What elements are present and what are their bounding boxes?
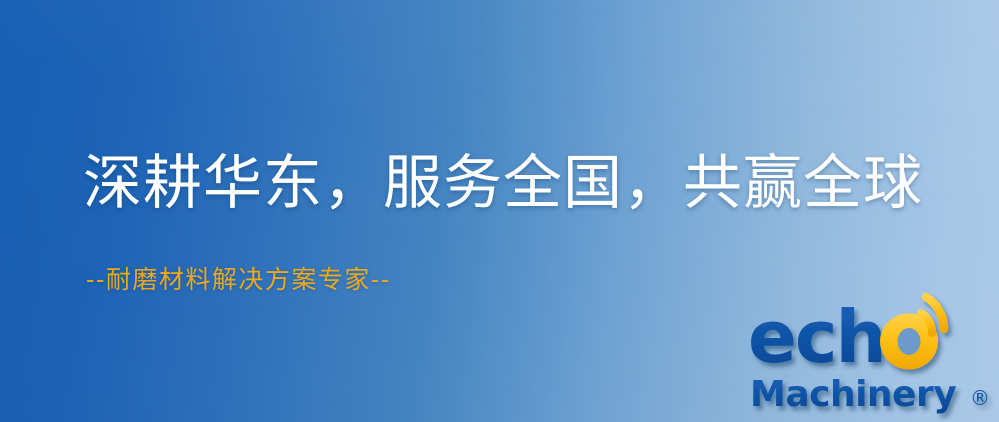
logo-tagline-text: Machinery [750, 374, 956, 415]
logo-wordmark-text: ech [748, 295, 885, 379]
banner-headline: 深耕华东，服务全国，共赢全球 [83, 150, 923, 216]
banner-subtitle: --耐磨材料解决方案专家-- [86, 265, 391, 295]
hero-banner: 深耕华东，服务全国，共赢全球 --耐磨材料解决方案专家-- [0, 0, 999, 422]
echo-machinery-logo[interactable]: ech Machinery ® [748, 298, 996, 414]
registered-trademark-icon: ® [970, 386, 990, 410]
